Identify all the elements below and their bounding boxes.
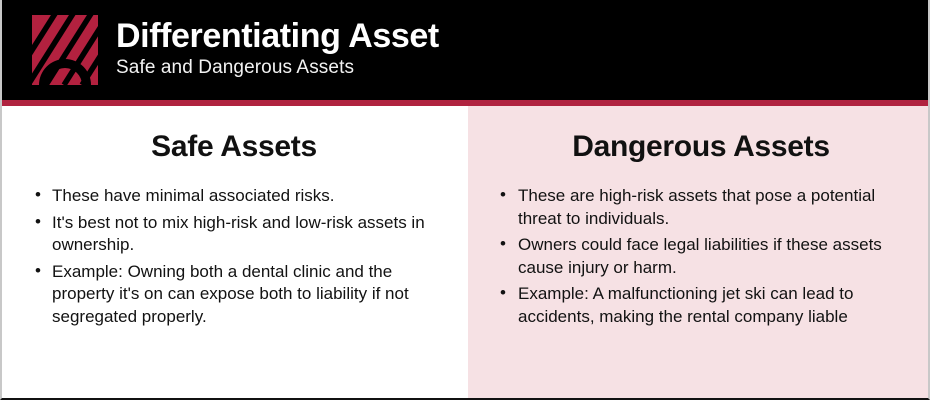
list-item: Owners could face legal liabilities if t… [488,234,914,279]
content-columns: Safe Assets These have minimal associate… [2,106,930,398]
list-item: These are high-risk assets that pose a p… [488,185,914,230]
striped-arch-logo-icon [32,15,98,85]
header-text-block: Differentiating Asset Safe and Dangerous… [116,18,439,82]
column-heading-dangerous-assets: Dangerous Assets [488,130,914,163]
slide-header: Differentiating Asset Safe and Dangerous… [2,0,930,100]
bullet-list-dangerous-assets: These are high-risk assets that pose a p… [488,185,914,329]
slide: Differentiating Asset Safe and Dangerous… [0,0,930,400]
bullet-list-safe-assets: These have minimal associated risks. It'… [22,185,446,329]
slide-subtitle: Safe and Dangerous Assets [116,56,439,80]
slide-title: Differentiating Asset [116,18,439,55]
list-item: Example: Owning both a dental clinic and… [22,261,446,329]
column-heading-safe-assets: Safe Assets [22,130,446,163]
list-item: These have minimal associated risks. [22,185,446,208]
column-safe-assets: Safe Assets These have minimal associate… [2,106,468,398]
list-item: It's best not to mix high-risk and low-r… [22,212,446,257]
column-dangerous-assets: Dangerous Assets These are high-risk ass… [468,106,930,398]
list-item: Example: A malfunctioning jet ski can le… [488,283,914,328]
